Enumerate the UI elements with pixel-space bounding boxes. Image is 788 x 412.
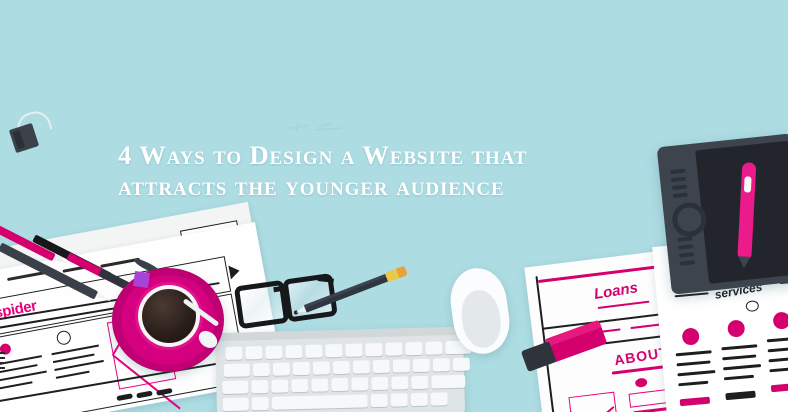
sketch-icon-circle [745,300,759,312]
paper-edge-marks [0,352,5,374]
coffee-liquid [142,289,196,343]
computer-mouse [446,265,513,358]
sketch-service-icon [727,319,745,337]
sketch-text-line [677,370,715,376]
binder-clip-icon [6,112,50,154]
sketch-text-line [721,344,757,350]
page-title: 4 Ways to Design a Website that attracts… [118,140,663,202]
sketch-text-line [676,350,712,356]
sketch-text-line [768,346,788,352]
sketch-text-line [678,381,708,387]
blog-header-banner: fabspider [0,0,788,412]
graphics-tablet [657,133,788,294]
sketch-service-icon [772,311,788,329]
faint-watermark [288,122,344,134]
sketch-cta [680,397,710,407]
sketch-underline [598,301,650,309]
sketch-heading-loans: Loans [593,279,639,303]
sketch-text-line [723,364,761,370]
sketch-service-icon [682,327,700,345]
page-title-line-2: attracts the younger audience [118,171,663,202]
keyboard [215,327,465,412]
sketch-dot [635,378,648,388]
sketch-text-line [724,375,754,381]
wireframe-play-arrow [228,264,240,280]
sketch-text-line [769,356,788,362]
sketch-text-line [677,360,711,366]
sketch-text-line [767,336,788,342]
sketch-cta [771,383,788,393]
page-title-line-1: 4 Ways to Design a Website that [118,140,663,171]
sketch-text-line [769,367,788,373]
sketch-squiggle [630,323,660,329]
sugar-cube [133,271,150,288]
sketch-text-line [722,354,756,360]
coffee-cup [112,262,230,380]
sketch-cta [725,391,755,401]
